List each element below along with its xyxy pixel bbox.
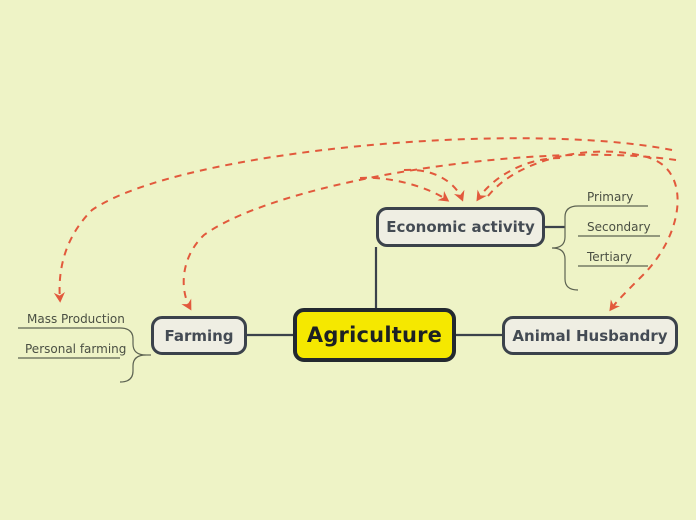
arrow-to-economic-3 [478, 158, 560, 199]
arrow-to-mass-production [60, 138, 672, 300]
relationship-arrows [60, 138, 678, 309]
node-agriculture-label: Agriculture [307, 323, 442, 347]
leaf-mass-production-label: Mass Production [27, 312, 125, 326]
leaf-personal-farming[interactable]: Personal farming [25, 342, 126, 356]
node-animal-husbandry[interactable]: Animal Husbandry [502, 316, 678, 355]
arrow-to-economic-2 [404, 170, 462, 199]
leaf-primary[interactable]: Primary [587, 190, 633, 204]
leaf-primary-label: Primary [587, 190, 633, 204]
leaf-secondary-label: Secondary [587, 220, 651, 234]
node-farming[interactable]: Farming [151, 316, 247, 355]
bracket-economic-children [552, 206, 578, 290]
leaf-secondary[interactable]: Secondary [587, 220, 651, 234]
arrow-to-economic-1 [360, 178, 447, 200]
leaf-tertiary-label: Tertiary [587, 250, 632, 264]
node-economic-activity[interactable]: Economic activity [376, 207, 545, 247]
mindmap-canvas[interactable]: Agriculture Economic activity Farming An… [0, 0, 696, 520]
node-agriculture[interactable]: Agriculture [293, 308, 456, 362]
node-farming-label: Farming [164, 327, 233, 345]
node-economic-activity-label: Economic activity [386, 218, 535, 236]
node-animal-husbandry-label: Animal Husbandry [512, 327, 667, 345]
leaf-personal-farming-label: Personal farming [25, 342, 126, 356]
leaf-mass-production[interactable]: Mass Production [27, 312, 125, 326]
leaf-tertiary[interactable]: Tertiary [587, 250, 632, 264]
